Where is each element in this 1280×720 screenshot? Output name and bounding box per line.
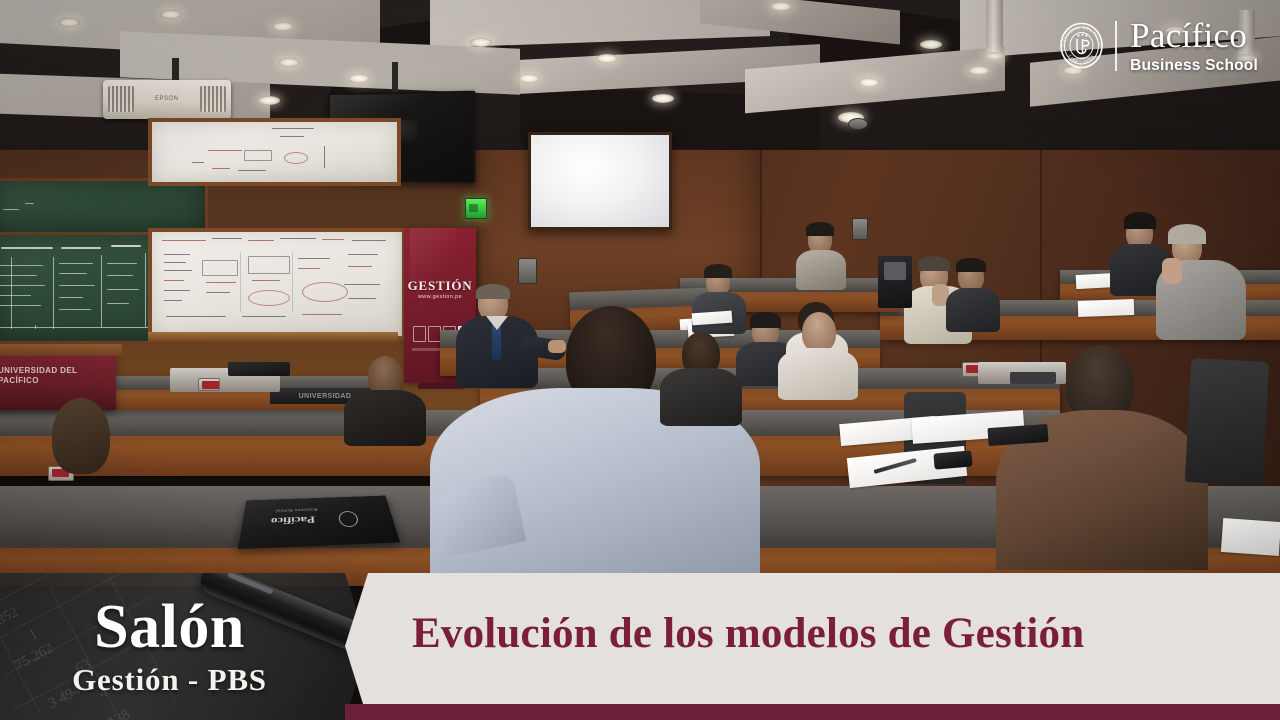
projection-screen-surface xyxy=(531,135,669,227)
universidad-del-pacifico-seal-icon: UNIVERSIDAD DEL PACIFICO LIMA - PERU xyxy=(1059,22,1104,69)
folder-brand-label: Pacífico xyxy=(270,514,315,527)
ceiling-downlight xyxy=(470,38,492,47)
whiteboard-tray xyxy=(148,332,398,342)
emergency-exit-light-icon xyxy=(465,198,487,219)
program-subtitle: Gestión - PBS xyxy=(72,662,267,698)
rollup-banner-url: www.gestion.pe xyxy=(404,294,476,300)
lower-third-accent-bar xyxy=(345,704,1280,720)
brand-tagline: Business School xyxy=(1130,58,1258,74)
desk-monitor-logo xyxy=(884,262,906,280)
projector-brand-label: EPSON xyxy=(155,96,179,102)
ceiling-downlight xyxy=(272,22,294,31)
lectern-label: UNIVERSIDAD DEL PACÍFICO xyxy=(0,366,110,386)
brand-divider xyxy=(1115,21,1117,71)
ceiling-downlight xyxy=(278,58,300,67)
chair-back xyxy=(1185,358,1269,486)
folder-seal-icon xyxy=(338,511,360,527)
program-identity: Salón Gestión - PBS xyxy=(0,573,345,720)
lectern: UNIVERSIDAD DEL PACÍFICO xyxy=(0,352,116,410)
brand-name: Pacífico xyxy=(1130,18,1258,53)
pacifico-folder: Business School Pacífico xyxy=(238,496,400,549)
video-frame: EPSON xyxy=(0,0,1280,720)
rollup-banner-title: GESTIÓN xyxy=(404,278,476,294)
projector-mount xyxy=(172,58,179,82)
chalkboard-upper xyxy=(0,178,208,233)
laptop-closed xyxy=(228,362,290,376)
smartphone xyxy=(933,450,972,469)
paper-sheet xyxy=(1221,518,1280,556)
wall-control-box xyxy=(852,218,868,240)
paper-sheet xyxy=(1078,299,1135,317)
ceiling-downlight xyxy=(58,18,80,27)
projector-vent-icon xyxy=(200,86,226,112)
ceiling-speaker-icon xyxy=(848,118,868,130)
ceiling-downlight xyxy=(920,40,942,49)
whiteboard-main xyxy=(148,228,406,340)
av-control-panel-display xyxy=(1010,372,1056,384)
svg-text:LIMA - PERU: LIMA - PERU xyxy=(1068,54,1095,65)
pacifico-brand-logo: UNIVERSIDAD DEL PACIFICO LIMA - PERU Pac… xyxy=(1059,18,1258,74)
ceiling-projector: EPSON xyxy=(103,80,231,119)
brand-wordmark: Pacífico Business School xyxy=(1130,18,1258,74)
ceiling-downlight xyxy=(770,2,792,11)
ceiling-downlight xyxy=(258,96,280,105)
episode-title: Evolución de los modelos de Gestión xyxy=(412,609,1084,658)
ceiling-downlight xyxy=(518,74,540,83)
ceiling-downlight xyxy=(160,10,182,19)
svg-text:UNIVERSIDAD DEL PACIFICO: UNIVERSIDAD DEL PACIFICO xyxy=(1059,22,1102,47)
ceiling-downlight xyxy=(968,66,990,75)
folder-sub-label: Business School xyxy=(275,507,317,513)
ceiling-downlight xyxy=(652,94,674,103)
lower-third: 1 852 75 262 63 4 3 494 138 52 29 1 xyxy=(0,573,1280,720)
pendant-light xyxy=(986,0,1003,56)
lower-third-title-panel: Evolución de los modelos de Gestión xyxy=(345,573,1280,720)
ceiling-downlight xyxy=(858,78,880,87)
program-title: Salón xyxy=(94,596,245,658)
whiteboard-upper xyxy=(148,118,401,186)
lectern-top xyxy=(0,344,122,356)
wall-control-box xyxy=(518,258,537,284)
ceiling-downlight xyxy=(596,54,618,63)
power-outlet-panel xyxy=(198,378,220,391)
ceiling-downlight xyxy=(348,74,370,83)
projector-vent-icon xyxy=(108,86,134,112)
projection-screen xyxy=(528,132,672,230)
lower-third-left-panel: 1 852 75 262 63 4 3 494 138 52 29 1 xyxy=(0,573,372,720)
